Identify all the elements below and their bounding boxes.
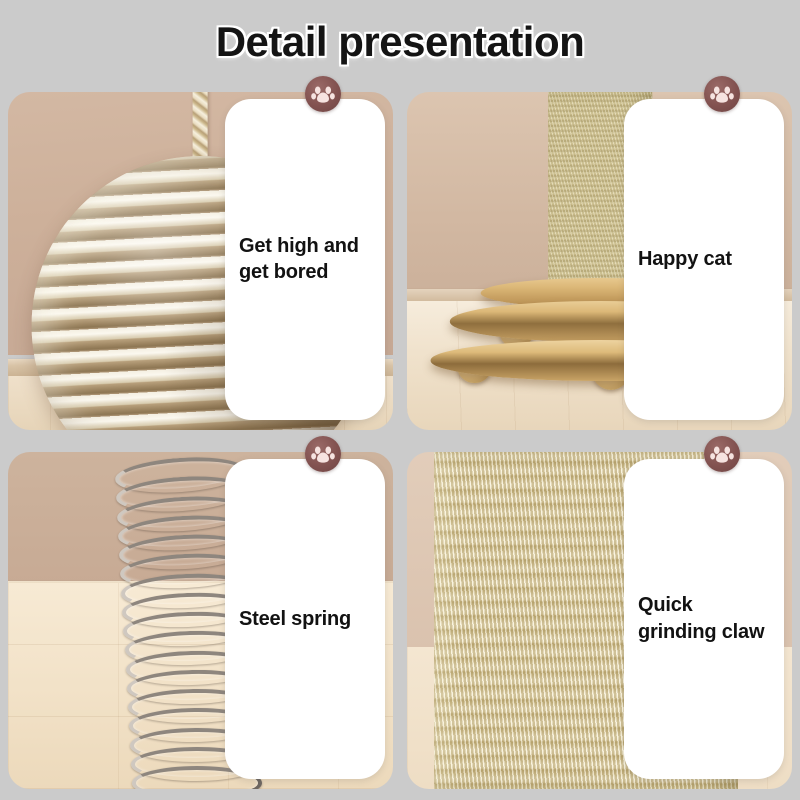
panel-grinding-claw[interactable]: Quick grinding claw <box>407 452 792 790</box>
caption-text: Steel spring <box>239 606 351 632</box>
caption-card-rope-ball[interactable]: Get high and get bored <box>225 99 385 420</box>
caption-text: Happy cat <box>638 246 732 272</box>
panel-rope-ball[interactable]: Get high and get bored <box>8 92 393 430</box>
rope-hanger-icon <box>192 92 207 160</box>
page-title: Detail presentation <box>0 18 800 66</box>
paw-print-icon <box>305 436 341 472</box>
caption-card-happy-cat[interactable]: Happy cat <box>624 99 784 420</box>
paw-print-icon <box>704 436 740 472</box>
panel-steel-spring[interactable]: Steel spring <box>8 452 393 790</box>
caption-card-grinding-claw[interactable]: Quick grinding claw <box>624 459 784 780</box>
paw-print-icon <box>305 76 341 112</box>
panel-happy-cat[interactable]: Happy cat <box>407 92 792 430</box>
caption-text: Get high and get bored <box>239 233 373 286</box>
paw-print-icon <box>704 76 740 112</box>
caption-text: Quick grinding claw <box>638 592 772 645</box>
caption-card-steel-spring[interactable]: Steel spring <box>225 459 385 780</box>
detail-panel-grid: Get high and get bored <box>8 92 792 789</box>
